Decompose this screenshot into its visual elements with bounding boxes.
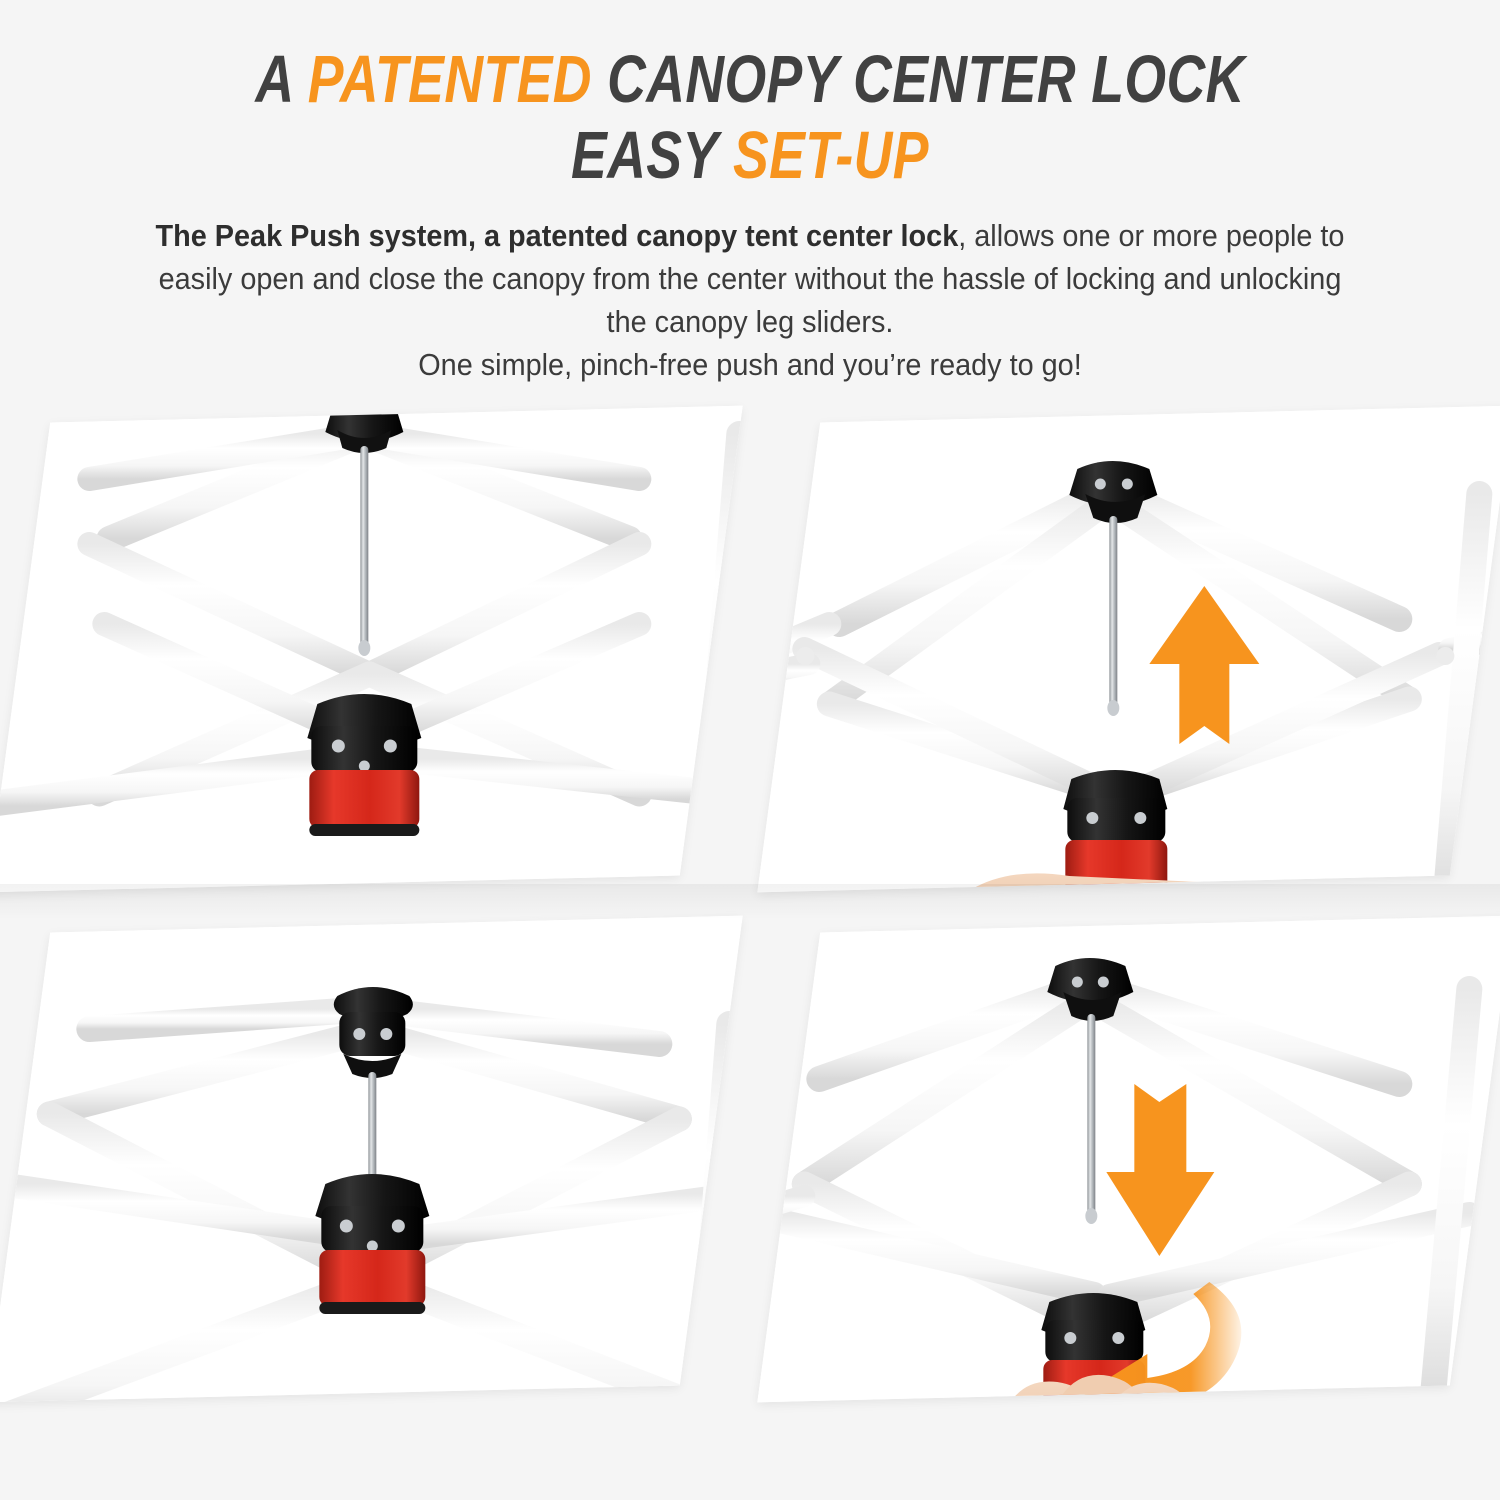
arrow-down-icon [1106,1084,1214,1256]
frame-illustration-releasing-down [757,916,1500,1403]
center-lock [307,694,421,836]
headline-part-b: CANOPY CENTER LOCK [592,42,1245,117]
panel-top-left[interactable] [0,406,743,893]
infographic-page: A PATENTED CANOPY CENTER LOCK EASY SET-U… [0,0,1500,1500]
center-lock [315,1174,429,1314]
panel-bottom-left-photo [0,916,743,1403]
header: A PATENTED CANOPY CENTER LOCK EASY SET-U… [0,0,1500,386]
headline-line-1: A PATENTED CANOPY CENTER LOCK [150,42,1350,118]
panel-bottom-left[interactable] [0,916,743,1403]
subheading-paragraph: The Peak Push system, a patented canopy … [53,214,1448,386]
panel-top-right[interactable] [757,406,1500,893]
panel-top-right-photo [757,406,1500,893]
headline-line-2: EASY SET-UP [150,118,1350,194]
subheading-strong: The Peak Push system, a patented canopy … [156,218,959,253]
frame-illustration-locked-closed [0,916,743,1403]
top-hub [334,987,413,1078]
push-rod [1109,516,1117,706]
arrow-up-icon [1149,586,1259,744]
subheading-final-line: One simple, pinch-free push and you’re r… [418,347,1081,382]
center-lock [1063,770,1167,892]
panel-bottom-right[interactable] [757,916,1500,1403]
headline-part-a: A [255,42,307,117]
headline-accent-patented: PATENTED [308,42,592,117]
panel-grid [0,404,1500,1500]
panel-top-left-photo [0,406,743,893]
headline-part-c: EASY [571,118,733,193]
push-rod [1087,1014,1095,1214]
frame-illustration-pushing-up [757,406,1500,893]
panel-bottom-right-photo [757,916,1500,1403]
frame-illustration-open-extended [0,406,743,893]
hand-open-palm [950,873,1389,892]
headline-accent-setup: SET-UP [733,118,929,193]
push-rod [368,1072,376,1182]
push-rod [360,446,368,646]
